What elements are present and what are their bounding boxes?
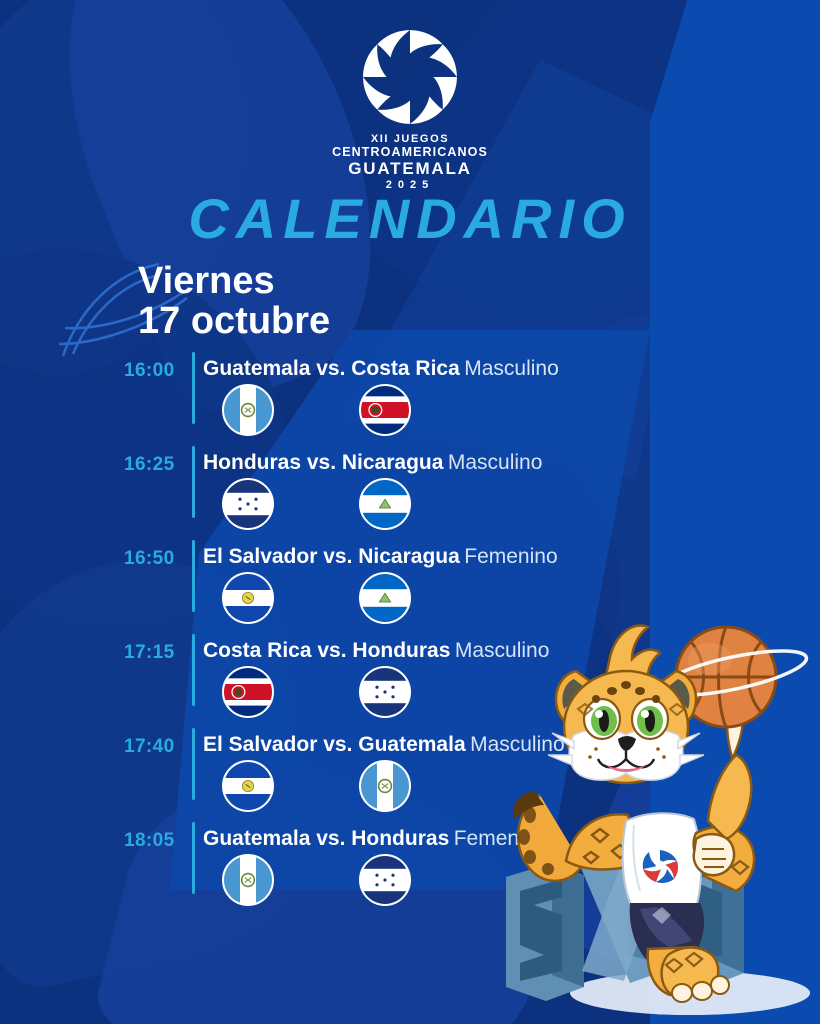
match-flags: [222, 666, 411, 718]
row-divider: [192, 446, 195, 518]
flag-honduras: [359, 666, 411, 718]
match-title: Guatemala vs. Costa Rica Masculino: [203, 357, 559, 381]
page-title: CALENDARIO: [0, 186, 820, 251]
jaguar-head: [548, 625, 704, 783]
jaguar-mascot: [500, 615, 820, 1024]
match-time: 17:15: [124, 642, 188, 664]
match-category: Masculino: [448, 451, 543, 474]
flag-honduras: [359, 854, 411, 906]
event-logo: XII JUEGOS CENTROAMERICANOS GUATEMALA 20…: [0, 26, 820, 192]
match-flags: [222, 384, 411, 436]
logo-line-2: CENTROAMERICANOS: [332, 146, 488, 160]
date-day-month: 17 octubre: [138, 302, 330, 342]
row-divider: [192, 540, 195, 612]
date-block: Viernes 17 octubre: [138, 262, 330, 341]
flag-nicaragua: [359, 572, 411, 624]
flag-nicaragua: [359, 478, 411, 530]
flag-el-salvador: [222, 760, 274, 812]
match-time: 16:50: [124, 548, 188, 570]
match-title: Costa Rica vs. Honduras Masculino: [203, 639, 549, 663]
match-category: Femenino: [464, 545, 557, 568]
match-teams: Guatemala vs. Costa Rica: [203, 357, 460, 380]
match-row[interactable]: 16:25 Honduras vs. Nicaragua Masculino: [0, 442, 820, 536]
match-time: 16:00: [124, 360, 188, 382]
match-flags: [222, 760, 411, 812]
match-flags: [222, 572, 411, 624]
flag-el-salvador: [222, 572, 274, 624]
row-divider: [192, 634, 195, 706]
logo-line-3: GUATEMALA: [332, 160, 488, 178]
match-title: El Salvador vs. Nicaragua Femenino: [203, 545, 558, 569]
match-teams: Costa Rica vs. Honduras: [203, 639, 450, 662]
spiral-emblem-icon: [359, 26, 461, 128]
match-teams: Honduras vs. Nicaragua: [203, 451, 443, 474]
match-title: Guatemala vs. Honduras Femenino: [203, 827, 547, 851]
match-time: 16:25: [124, 454, 188, 476]
date-weekday: Viernes: [138, 262, 330, 302]
row-divider: [192, 822, 195, 894]
match-time: 17:40: [124, 736, 188, 758]
flag-guatemala: [222, 854, 274, 906]
row-divider: [192, 728, 195, 800]
match-time: 18:05: [124, 830, 188, 852]
match-flags: [222, 478, 411, 530]
flag-guatemala: [359, 760, 411, 812]
row-divider: [192, 352, 195, 424]
flag-honduras: [222, 478, 274, 530]
flag-costa-rica: [359, 384, 411, 436]
match-title: Honduras vs. Nicaragua Masculino: [203, 451, 542, 475]
match-teams: El Salvador vs. Guatemala: [203, 733, 466, 756]
match-teams: El Salvador vs. Nicaragua: [203, 545, 460, 568]
match-flags: [222, 854, 411, 906]
flag-guatemala: [222, 384, 274, 436]
match-row[interactable]: 16:00 Guatemala vs. Costa Rica Masculino: [0, 348, 820, 442]
flag-costa-rica: [222, 666, 274, 718]
match-category: Masculino: [464, 357, 559, 380]
match-teams: Guatemala vs. Honduras: [203, 827, 449, 850]
